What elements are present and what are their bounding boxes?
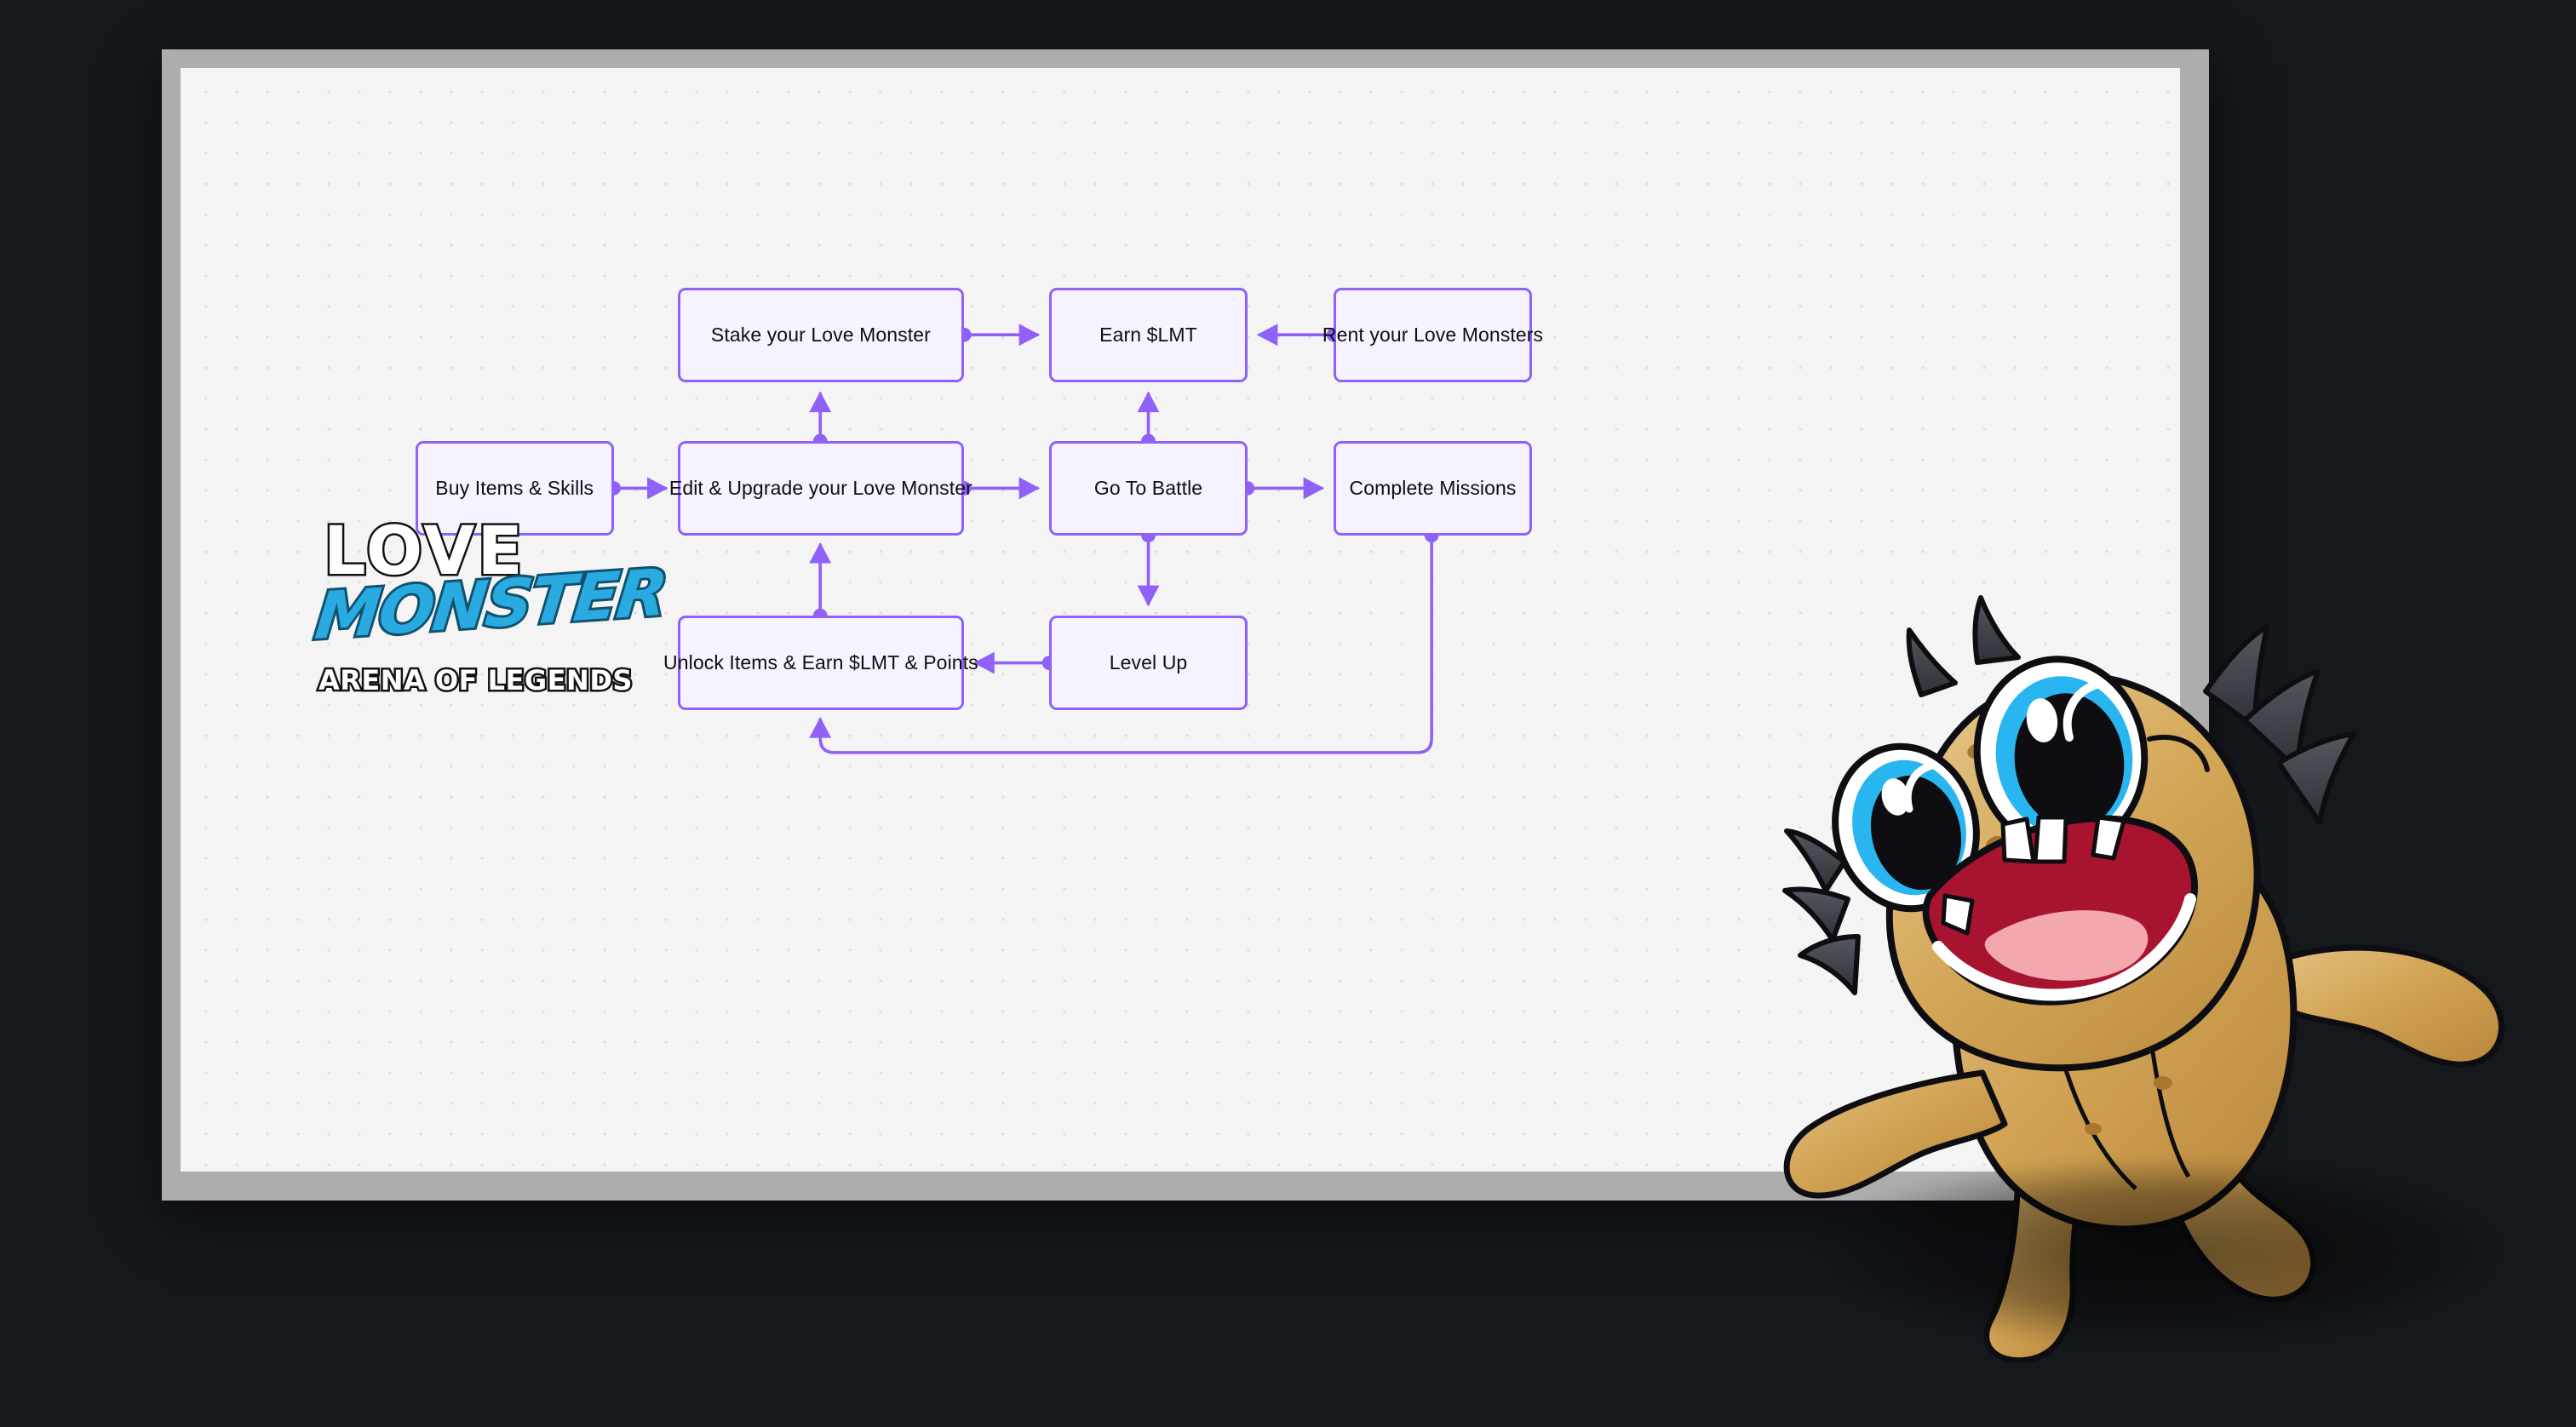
mascot-arm-right	[2274, 948, 2502, 1064]
node-label: Complete Missions	[1350, 476, 1517, 501]
mascot-tooth-2	[2035, 817, 2066, 862]
node-label: Rent your Love Monsters	[1322, 323, 1543, 347]
mascot-spot-2	[2154, 1076, 2172, 1090]
node-complete-missions[interactable]: Complete Missions	[1334, 441, 1532, 536]
node-rent-your-love-monsters[interactable]: Rent your Love Monsters	[1334, 288, 1532, 382]
node-label: Level Up	[1110, 650, 1188, 675]
logo-line3: ARENA OF LEGENDS	[318, 664, 633, 696]
node-earn-lmt[interactable]: Earn $LMT	[1049, 288, 1248, 382]
node-label: Earn $LMT	[1099, 323, 1197, 347]
node-stake-your-love-monster[interactable]: Stake your Love Monster	[678, 288, 965, 382]
mascot-tooth-1	[2003, 819, 2034, 862]
mascot-container	[1763, 562, 2512, 1379]
mascot-shadow	[1814, 1158, 2495, 1345]
mascot-spot-3	[2085, 1123, 2102, 1135]
node-label: Stake your Love Monster	[711, 323, 931, 347]
screenshot-root: Stake your Love Monster Earn $LMT Rent y…	[0, 0, 2576, 1427]
node-edit-upgrade-your-love-monster[interactable]: Edit & Upgrade your Love Monster	[678, 441, 965, 536]
node-unlock-items-earn-lmt-points[interactable]: Unlock Items & Earn $LMT & Points	[678, 616, 965, 710]
node-label: Edit & Upgrade your Love Monster	[669, 476, 972, 501]
love-monster-logo: LOVE MONSTER ARENA OF LEGENDS	[308, 511, 683, 715]
node-level-up[interactable]: Level Up	[1049, 616, 1248, 710]
node-label: Unlock Items & Earn $LMT & Points	[663, 650, 978, 675]
node-go-to-battle[interactable]: Go To Battle	[1049, 441, 1248, 536]
node-label: Buy Items & Skills	[435, 476, 594, 501]
node-label: Go To Battle	[1094, 476, 1202, 501]
